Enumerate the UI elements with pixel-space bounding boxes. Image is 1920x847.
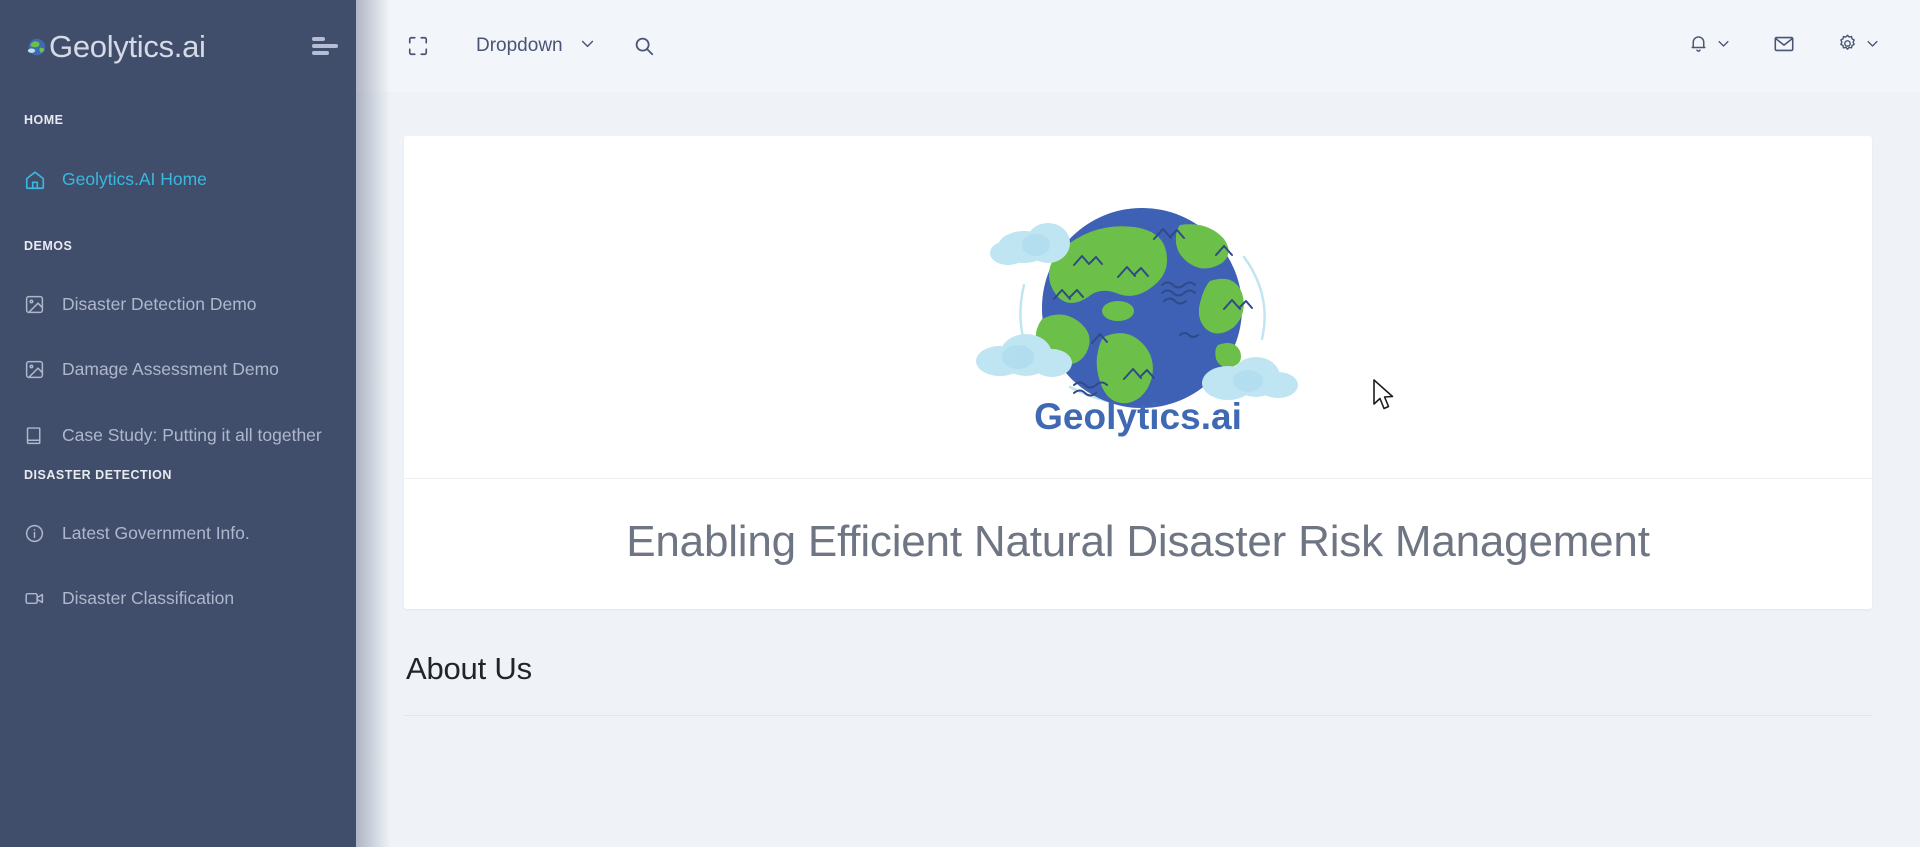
page-title: Enabling Efficient Natural Disaster Risk… — [404, 479, 1872, 609]
chevron-down-icon — [1865, 36, 1880, 56]
mouse-cursor — [1372, 379, 1398, 413]
sidebar-item-geolytics-ai-home[interactable]: Geolytics.AI Home — [0, 165, 356, 194]
sidebar: Geolytics.ai HOME Geolytics.AI Home DEMO… — [0, 0, 356, 847]
hamburger-menu-icon[interactable] — [312, 37, 338, 55]
chevron-down-icon — [1716, 36, 1731, 56]
topbar-left-group: Dropdown — [396, 24, 666, 68]
sidebar-item-label: Disaster Classification — [62, 584, 334, 613]
sidebar-section-title-disaster-detection: DISASTER DETECTION — [0, 468, 356, 482]
sidebar-item-latest-government-info[interactable]: Latest Government Info. — [0, 519, 356, 548]
sidebar-item-disaster-classification[interactable]: Disaster Classification — [0, 584, 356, 613]
home-icon — [24, 165, 48, 194]
logo-wordmark: Geolytics.ai — [1034, 396, 1242, 437]
app-root: Geolytics.ai HOME Geolytics.AI Home DEMO… — [0, 0, 1920, 847]
image-icon — [24, 290, 48, 319]
book-icon — [24, 421, 48, 450]
sidebar-header: Geolytics.ai — [0, 0, 356, 92]
dropdown-label: Dropdown — [476, 35, 563, 57]
messages-button[interactable] — [1773, 33, 1795, 60]
fullscreen-expand-icon[interactable] — [396, 24, 440, 68]
search-icon[interactable] — [622, 24, 666, 68]
sidebar-section-title-home: HOME — [0, 113, 356, 127]
bell-icon — [1688, 33, 1709, 59]
notifications-button[interactable] — [1688, 33, 1731, 59]
content-area: Geolytics.ai Enabling Efficient Natural … — [356, 92, 1920, 847]
sidebar-item-label: Case Study: Putting it all together — [62, 421, 334, 450]
sidebar-item-damage-assessment-demo[interactable]: Damage Assessment Demo — [0, 355, 356, 384]
hero-card: Geolytics.ai Enabling Efficient Natural … — [404, 136, 1872, 609]
topbar-right-group — [1688, 33, 1880, 60]
dropdown-menu-button[interactable]: Dropdown — [476, 35, 596, 58]
hero-logo-container: Geolytics.ai — [404, 136, 1872, 478]
sidebar-item-case-study[interactable]: Case Study: Putting it all together — [0, 421, 356, 450]
brand[interactable]: Geolytics.ai — [26, 31, 206, 62]
about-us-heading: About Us — [404, 609, 1872, 687]
sidebar-item-disaster-detection-demo[interactable]: Disaster Detection Demo — [0, 290, 356, 319]
image-icon — [24, 355, 48, 384]
topbar: Dropdown — [356, 0, 1920, 92]
globe-logo-icon: Geolytics.ai — [966, 177, 1311, 437]
sidebar-section-title-demos: DEMOS — [0, 239, 356, 253]
chevron-down-icon — [579, 35, 596, 58]
brand-name: Geolytics.ai — [49, 31, 206, 62]
video-camera-icon — [24, 584, 48, 613]
envelope-icon — [1773, 33, 1795, 60]
about-divider — [404, 715, 1872, 716]
gear-icon — [1837, 33, 1858, 59]
globe-logo-icon — [26, 36, 48, 58]
settings-button[interactable] — [1837, 33, 1880, 59]
sidebar-item-label: Damage Assessment Demo — [62, 355, 334, 384]
main-area: Dropdown — [356, 0, 1920, 847]
sidebar-item-label: Latest Government Info. — [62, 519, 334, 548]
sidebar-item-label: Geolytics.AI Home — [62, 165, 334, 194]
sidebar-item-label: Disaster Detection Demo — [62, 290, 334, 319]
info-circle-icon — [24, 519, 48, 548]
